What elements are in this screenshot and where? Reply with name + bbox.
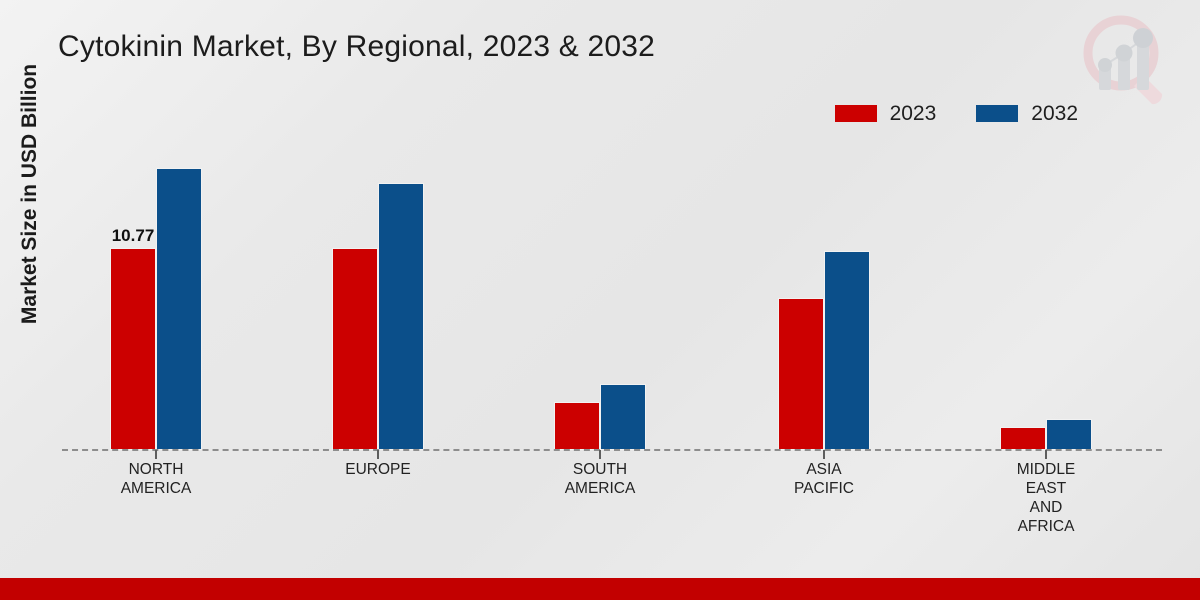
bar-2023[interactable]: [1000, 427, 1046, 450]
footer-bar: [0, 578, 1200, 600]
chart-title: Cytokinin Market, By Regional, 2023 & 20…: [58, 30, 655, 64]
x-axis-category-label: EUROPE: [345, 460, 410, 479]
bar-group: [554, 140, 646, 450]
bar-group: 10.77: [110, 140, 202, 450]
x-axis-category-label: NORTHAMERICA: [121, 460, 192, 498]
legend-label-2023: 2023: [890, 103, 937, 124]
bar-2023[interactable]: 10.77: [110, 248, 156, 450]
legend-swatch-2023: [835, 105, 877, 122]
bar-2032[interactable]: [1046, 419, 1092, 450]
bar-group: [778, 140, 870, 450]
bar-group: [332, 140, 424, 450]
legend-label-2032: 2032: [1031, 103, 1078, 124]
x-axis-category-label: MIDDLEEASTANDAFRICA: [1017, 460, 1076, 536]
bar-2032[interactable]: [824, 251, 870, 450]
bar-group: [1000, 140, 1092, 450]
y-axis-title: Market Size in USD Billion: [18, 29, 42, 359]
magnifier-bars-logo-icon: [1066, 8, 1184, 108]
chart-canvas: Cytokinin Market, By Regional, 2023 & 20…: [0, 0, 1200, 600]
bar-2032[interactable]: [156, 168, 202, 450]
chart-legend: 2023 2032: [835, 103, 1078, 124]
plot-area: 10.77: [62, 140, 1162, 450]
x-axis-category-label: ASIAPACIFIC: [794, 460, 854, 498]
x-axis-category-label: SOUTHAMERICA: [565, 460, 636, 498]
bar-2032[interactable]: [378, 183, 424, 450]
x-axis-tick: [823, 450, 825, 459]
bar-value-label: 10.77: [112, 226, 155, 246]
legend-swatch-2032: [976, 105, 1018, 122]
x-axis-baseline: [62, 449, 1162, 451]
x-axis-tick: [1045, 450, 1047, 459]
bar-2023[interactable]: [332, 248, 378, 450]
bar-2032[interactable]: [600, 384, 646, 450]
legend-item-2032[interactable]: 2032: [976, 103, 1078, 124]
x-axis-tick: [599, 450, 601, 459]
bar-2023[interactable]: [554, 402, 600, 450]
bar-2023[interactable]: [778, 298, 824, 450]
legend-item-2023[interactable]: 2023: [835, 103, 937, 124]
x-axis-tick: [377, 450, 379, 459]
x-axis-tick: [155, 450, 157, 459]
